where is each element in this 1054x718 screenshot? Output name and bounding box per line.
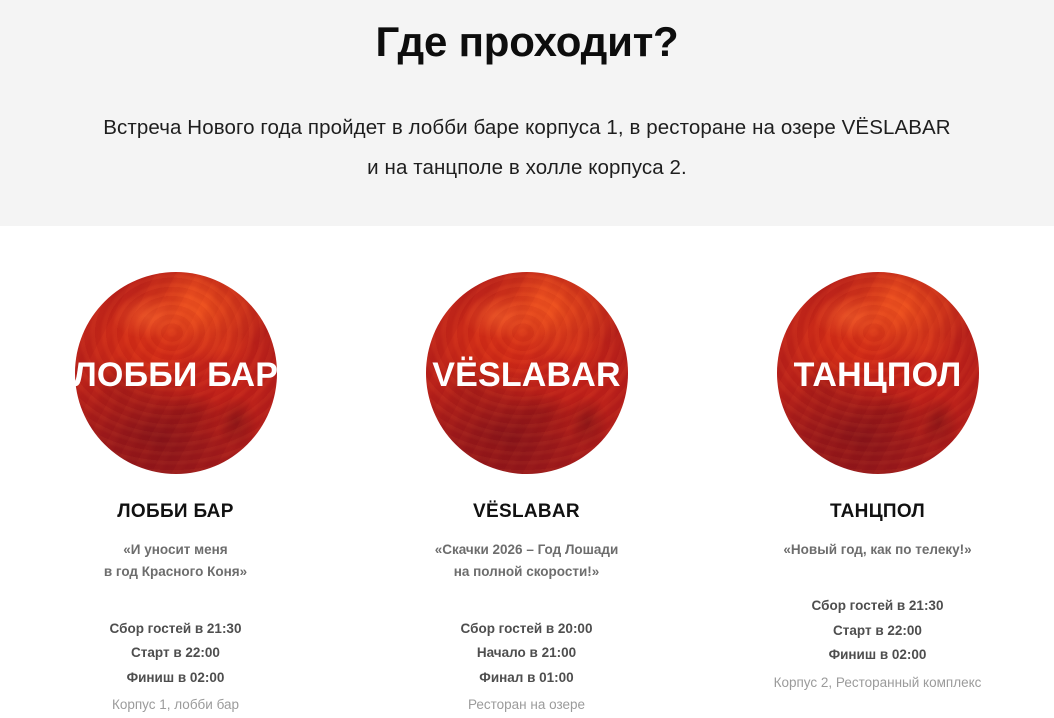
card-quote-line: в год Красного Коня» bbox=[104, 561, 247, 583]
page-title: Где проходит? bbox=[0, 0, 1054, 66]
card-venue: Ресторан на озере bbox=[468, 690, 585, 718]
venue-badge-veslabar: VËSLABAR bbox=[426, 272, 628, 474]
card-quote: «И уносит меня в год Красного Коня» bbox=[104, 523, 247, 584]
header-band: Где проходит? Встреча Нового года пройде… bbox=[0, 0, 1054, 226]
card-venue: Корпус 2, Ресторанный комплекс bbox=[774, 668, 982, 696]
card-time-line: Финиш в 02:00 bbox=[812, 643, 944, 668]
card-title: ЛОББИ БАР bbox=[117, 474, 233, 523]
card-times: Сбор гостей в 21:30 Старт в 22:00 Финиш … bbox=[812, 561, 944, 668]
card-quote-line: «Скачки 2026 – Год Лошади bbox=[435, 539, 619, 561]
card-title: VËSLABAR bbox=[473, 474, 580, 523]
intro-line-2: и на танцполе в холле корпуса 2. bbox=[0, 148, 1054, 188]
card-venue: Корпус 1, лобби бар bbox=[112, 690, 239, 718]
card-time-line: Старт в 22:00 bbox=[812, 619, 944, 644]
venue-card-dancefloor: ТАНЦПОЛ ТАНЦПОЛ «Новый год, как по телек… bbox=[702, 272, 1053, 696]
venue-badge-dancefloor: ТАНЦПОЛ bbox=[777, 272, 979, 474]
card-time-line: Финал в 01:00 bbox=[461, 666, 593, 691]
card-time-line: Начало в 21:00 bbox=[461, 641, 593, 666]
intro-line-1: Встреча Нового года пройдет в лобби баре… bbox=[0, 108, 1054, 148]
card-quote: «Новый год, как по телеку!» bbox=[783, 523, 971, 561]
card-times: Сбор гостей в 21:30 Старт в 22:00 Финиш … bbox=[110, 584, 242, 691]
card-quote: «Скачки 2026 – Год Лошади на полной скор… bbox=[435, 523, 619, 584]
intro-paragraph: Встреча Нового года пройдет в лобби баре… bbox=[0, 66, 1054, 188]
card-quote-line: «И уносит меня bbox=[104, 539, 247, 561]
card-title: ТАНЦПОЛ bbox=[830, 474, 925, 523]
venue-card-lobby-bar: ЛОББИ БАР ЛОББИ БАР «И уносит меня в год… bbox=[0, 272, 351, 718]
card-times: Сбор гостей в 20:00 Начало в 21:00 Финал… bbox=[461, 584, 593, 691]
card-time-line: Финиш в 02:00 bbox=[110, 666, 242, 691]
card-time-line: Сбор гостей в 20:00 bbox=[461, 617, 593, 642]
card-time-line: Сбор гостей в 21:30 bbox=[812, 594, 944, 619]
card-time-line: Сбор гостей в 21:30 bbox=[110, 617, 242, 642]
card-quote-line: на полной скорости!» bbox=[435, 561, 619, 583]
venue-badge-lobby-bar: ЛОББИ БАР bbox=[75, 272, 277, 474]
card-quote-line: «Новый год, как по телеку!» bbox=[783, 539, 971, 561]
venue-cards-row: ЛОББИ БАР ЛОББИ БАР «И уносит меня в год… bbox=[0, 226, 1054, 718]
badge-label: ЛОББИ БАР bbox=[73, 358, 278, 392]
venue-card-veslabar: VËSLABAR VËSLABAR «Скачки 2026 – Год Лош… bbox=[351, 272, 702, 718]
card-time-line: Старт в 22:00 bbox=[110, 641, 242, 666]
badge-label: ТАНЦПОЛ bbox=[794, 358, 962, 392]
badge-label: VËSLABAR bbox=[432, 358, 621, 392]
